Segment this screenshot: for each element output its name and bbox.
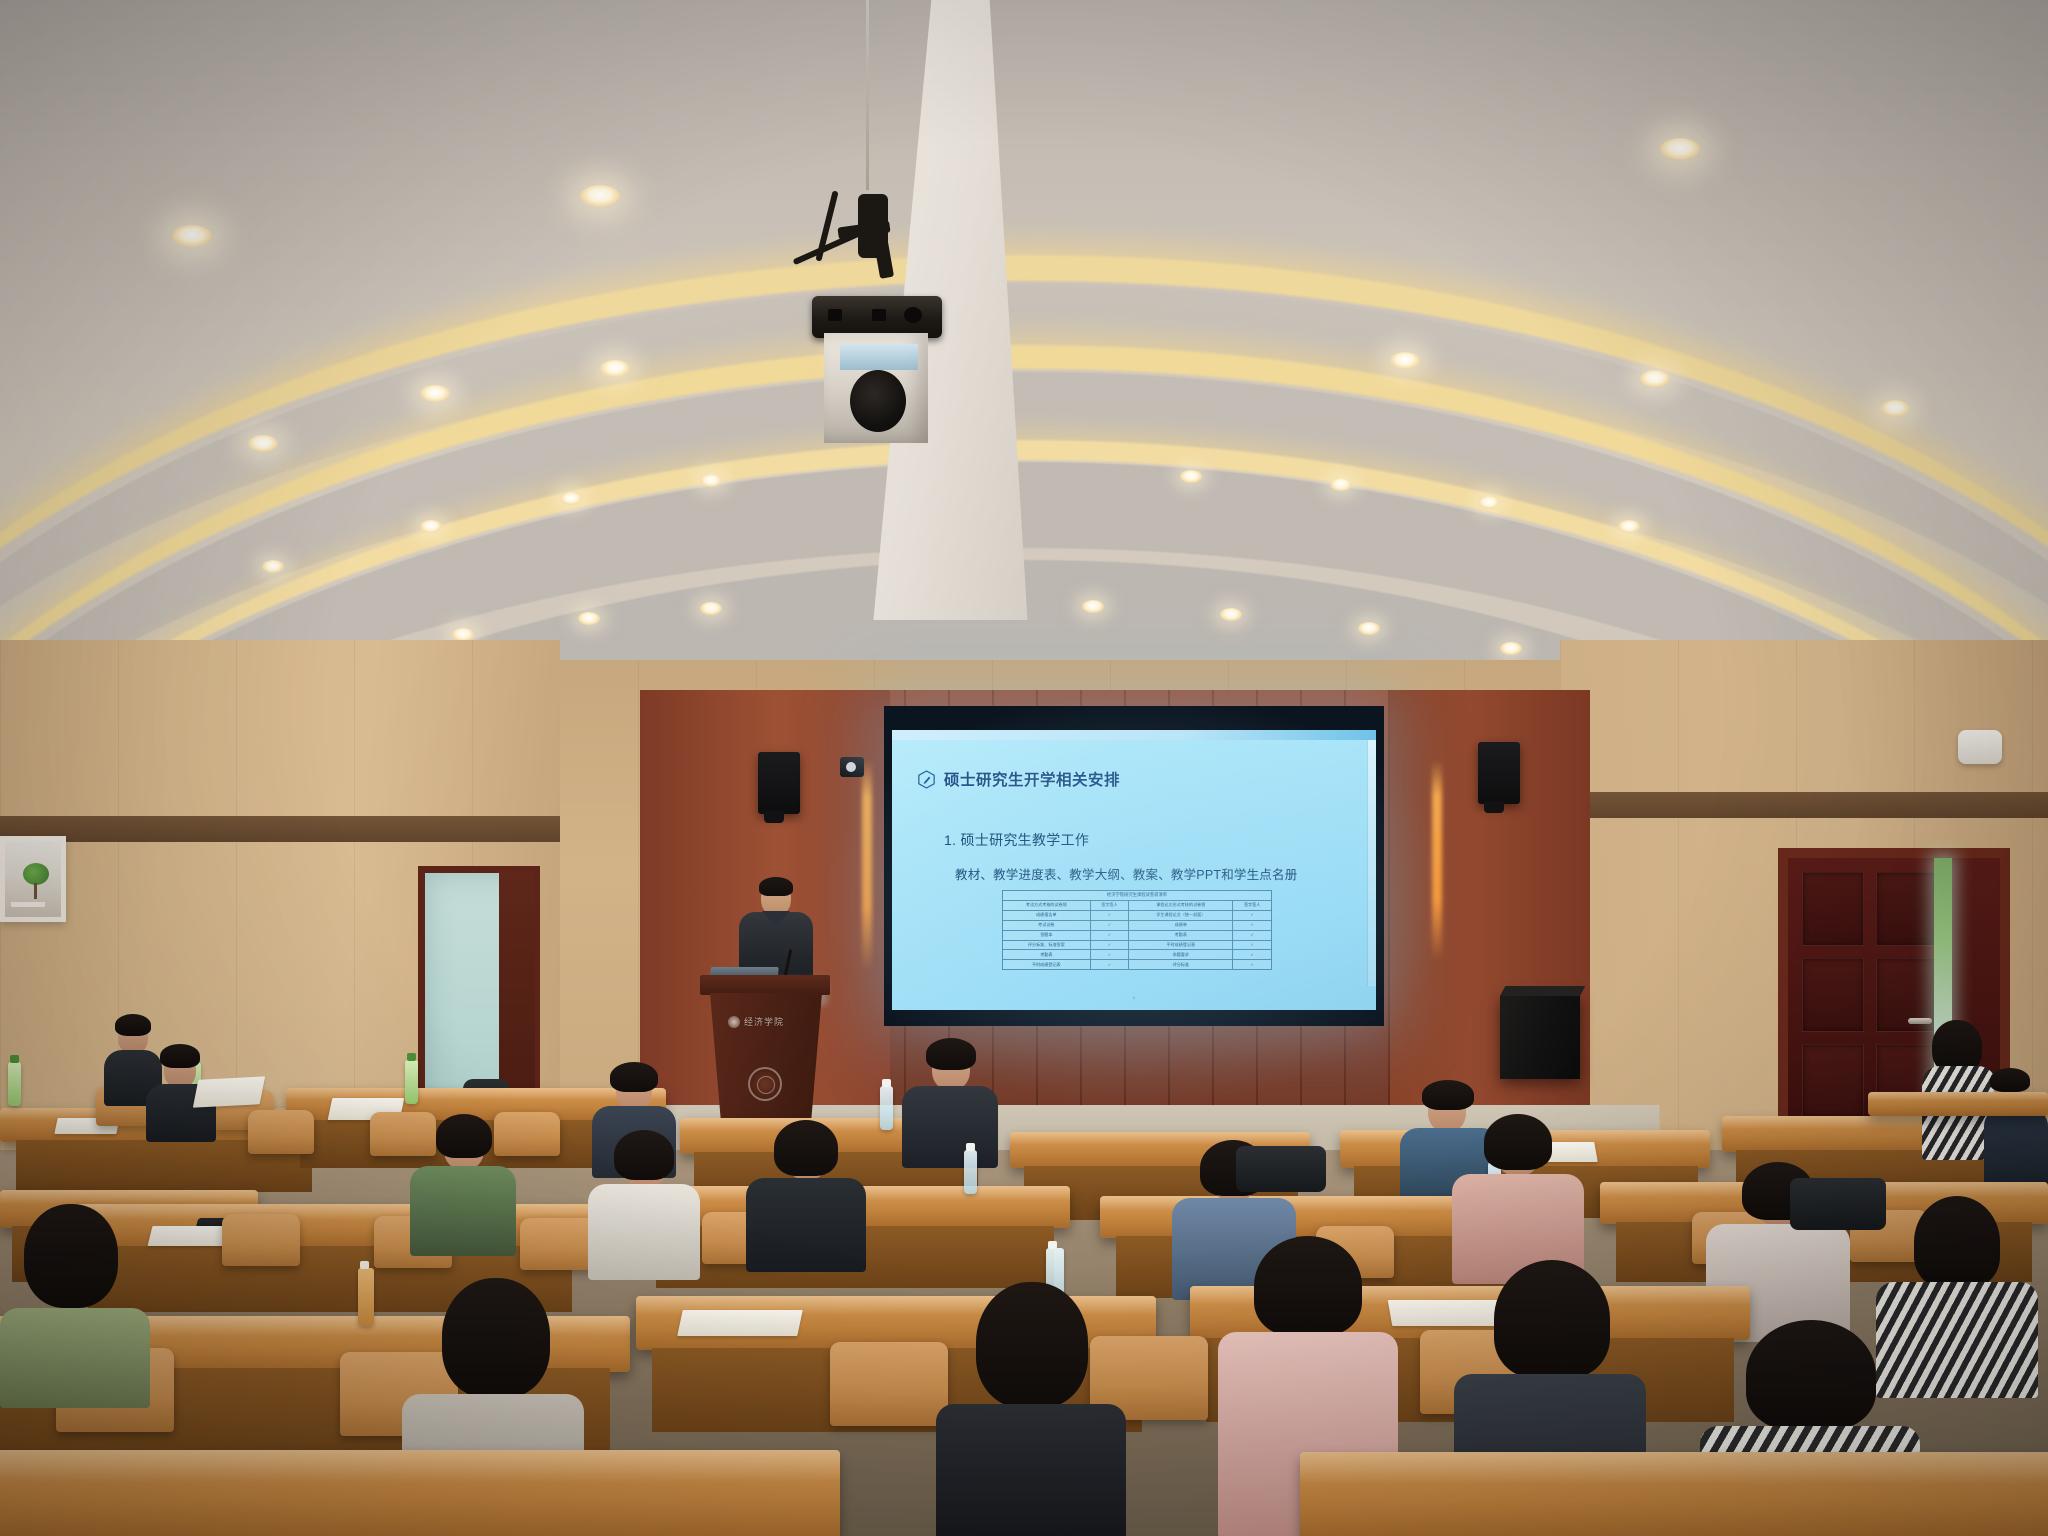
downlight [578, 612, 600, 625]
table-row: 答题本 ✓ 考勤表 ✓ [1003, 930, 1272, 940]
table-cell: 成绩报告单 [1003, 910, 1091, 920]
audience-person [742, 1120, 868, 1270]
downlight [600, 360, 630, 377]
table-cell: ✓ [1233, 910, 1272, 920]
table-cell: 考勤表 [1003, 950, 1091, 960]
wall-speaker-left [758, 752, 800, 814]
table-cell: ✓ [1233, 960, 1272, 970]
ceiling-camera-inner-panel [840, 344, 918, 370]
table-cell: ✓ [1090, 950, 1129, 960]
downlight [1478, 496, 1500, 509]
ptz-camera-icon [840, 757, 864, 777]
table-header-cell: 考试方式考核的试卷袋 [1003, 901, 1091, 911]
audience-person [930, 1282, 1130, 1536]
table-cell: 命题要求 [1129, 950, 1233, 960]
bottle [405, 1060, 418, 1104]
table-row: 评分标准、标准答案 ✓ 平时成绩登记表 ✓ [1003, 940, 1272, 950]
podium-emblem-icon [748, 1067, 782, 1101]
bottle [358, 1268, 374, 1326]
podium-top-surface [700, 975, 830, 995]
subwoofer [1500, 995, 1580, 1079]
downlight [1618, 520, 1640, 533]
table-row: 成绩报告单 ✓ 学生课程论文（统一封面） ✓ [1003, 910, 1272, 920]
slide-title-row: 硕士研究生开学相关安排 [918, 768, 1120, 790]
downlight [700, 474, 722, 487]
paper-sheet [677, 1310, 803, 1336]
table-cell: 考勤表 [1129, 930, 1233, 940]
audience-person [0, 1204, 150, 1404]
table-row: 考试试卷 ✓ 成绩单 ✓ [1003, 920, 1272, 930]
slide-heading-1: 1. 硕士研究生教学工作 [944, 830, 1089, 850]
slide-title: 硕士研究生开学相关安排 [944, 768, 1120, 790]
rig-suspension-wire [866, 0, 869, 190]
ppt-sidebar-strip [1367, 740, 1376, 986]
chair [248, 1110, 314, 1154]
warm-accent-strip [1432, 760, 1442, 960]
ceiling [0, 0, 2048, 700]
table-cell: 评分标准 [1129, 960, 1233, 970]
downlight [420, 385, 450, 402]
wireless-access-point-icon [1958, 730, 2002, 764]
table-cell: ✓ [1090, 960, 1129, 970]
camera-lens-icon [850, 370, 906, 432]
slide-body-text: 教材、教学进度表、教学大纲、教案、教学PPT和学生点名册 [955, 864, 1297, 883]
downlight [1390, 352, 1420, 369]
downlight [1220, 608, 1242, 621]
downlight [262, 560, 284, 573]
downlight [1640, 370, 1670, 387]
table-cell: 学生课程论文（统一封面） [1129, 910, 1233, 920]
table-cell: ✓ [1090, 920, 1129, 930]
table-cell: 平时成绩登记表 [1129, 940, 1233, 950]
downlight [700, 602, 722, 615]
table-cell: ✓ [1090, 910, 1129, 920]
wall-speaker-right [1478, 742, 1520, 804]
table-cell: ✓ [1233, 930, 1272, 940]
table-cell: 评分标准、标准答案 [1003, 940, 1091, 950]
desk-foreground [0, 1450, 840, 1536]
table-cell: 平时成绩登记表 [1003, 960, 1091, 970]
ceiling-camera-body [812, 296, 942, 338]
downlight [580, 185, 620, 207]
downlight [1660, 138, 1700, 160]
table-cell: ✓ [1090, 940, 1129, 950]
table-cell: ✓ [1233, 920, 1272, 930]
university-seal-icon [728, 1016, 740, 1028]
bottle [964, 1150, 977, 1194]
table-row: 平时成绩登记表 ✓ 评分标准 ✓ [1003, 960, 1272, 970]
downlight [1330, 478, 1352, 491]
table-cell: ✓ [1233, 940, 1272, 950]
audience-person [408, 1112, 518, 1254]
presenter-hair [759, 877, 793, 896]
slide-page-number: 1 [1133, 995, 1135, 1000]
audience-person [1450, 1112, 1586, 1282]
audience-person [900, 1036, 1000, 1166]
podium: 经济学院 [700, 975, 830, 1125]
slide-table: 经济学院研究生课程试卷袋清单 考试方式考核的试卷袋 签字签人 课程论文形式考核的… [1002, 890, 1272, 970]
table-row: 考勤表 ✓ 命题要求 ✓ [1003, 950, 1272, 960]
hexagon-pencil-icon [918, 770, 935, 789]
bag [1236, 1146, 1326, 1192]
open-notebook [193, 1076, 265, 1107]
lecture-hall-photo: 硕士研究生开学相关安排 1. 硕士研究生教学工作 教材、教学进度表、教学大纲、教… [0, 0, 2048, 1536]
podium-branding: 经济学院 [728, 1015, 784, 1028]
desk [1868, 1092, 2048, 1116]
wall-trim-band [1560, 792, 2048, 818]
downlight [172, 225, 212, 247]
downlight [1358, 622, 1380, 635]
warm-accent-strip [862, 760, 872, 970]
projection-screen-frame: 硕士研究生开学相关安排 1. 硕士研究生教学工作 教材、教学进度表、教学大纲、教… [884, 706, 1384, 1026]
bottle [8, 1062, 21, 1106]
table-cell: 成绩单 [1129, 920, 1233, 930]
audience-person [584, 1128, 702, 1278]
desk-foreground [1300, 1452, 2048, 1536]
audience-person [1984, 1068, 2048, 1188]
table-caption: 经济学院研究生课程试卷袋清单 [1003, 891, 1272, 901]
framed-landscape-picture [0, 836, 66, 922]
chair [222, 1214, 300, 1266]
podium-label: 经济学院 [744, 1015, 784, 1028]
bag [1790, 1178, 1886, 1230]
downlight [1180, 470, 1202, 483]
podium-body: 经济学院 [710, 993, 822, 1125]
table-header-cell: 签字签人 [1090, 901, 1129, 911]
table-cell: 考试试卷 [1003, 920, 1091, 930]
downlight [420, 520, 442, 533]
ppt-topbar [892, 730, 1376, 740]
tree-icon [23, 863, 49, 885]
downlight [248, 435, 278, 452]
bottle [880, 1086, 893, 1130]
downlight [1500, 642, 1522, 655]
table-cell: 答题本 [1003, 930, 1091, 940]
table-header-cell: 课程论文形式考核的试卷袋 [1129, 901, 1233, 911]
table-cell: ✓ [1233, 950, 1272, 960]
wall-trim-band [0, 816, 560, 842]
downlight [560, 492, 582, 505]
table-header-cell: 签字签人 [1233, 901, 1272, 911]
ceiling-camera-mount [780, 180, 940, 290]
downlight [1880, 400, 1910, 417]
projection-screen[interactable]: 硕士研究生开学相关安排 1. 硕士研究生教学工作 教材、教学进度表、教学大纲、教… [892, 730, 1376, 1010]
table-header-row: 考试方式考核的试卷袋 签字签人 课程论文形式考核的试卷袋 签字签人 [1003, 901, 1272, 911]
table-cell: ✓ [1090, 930, 1129, 940]
downlight [1082, 600, 1104, 613]
